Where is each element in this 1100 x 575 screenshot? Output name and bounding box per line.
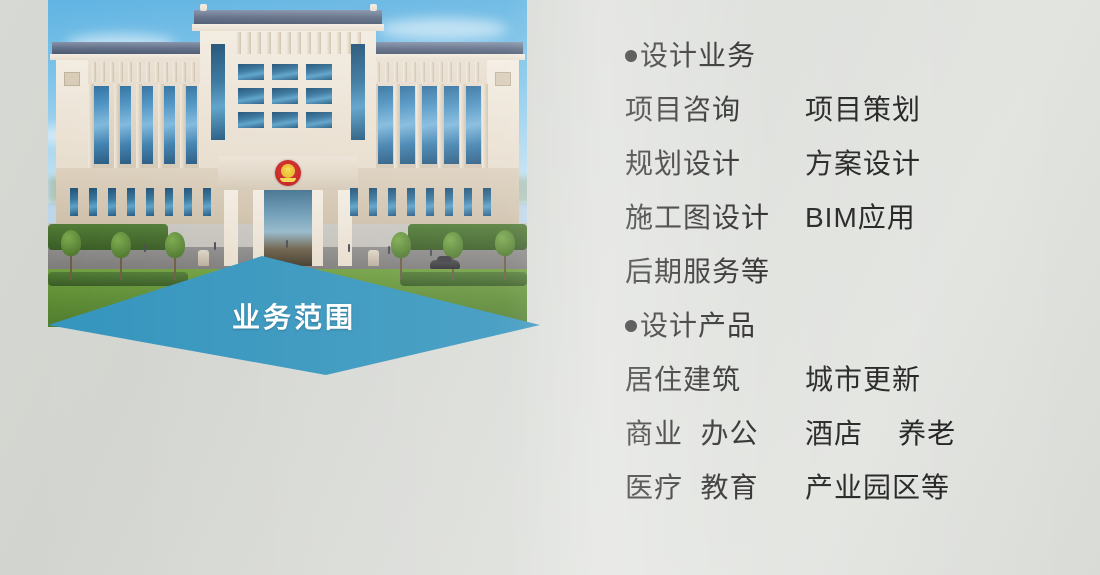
roof-finial [200,4,207,11]
bullet-icon [625,320,637,332]
portico-column [224,190,238,266]
section-heading-text: 设计产品 [640,304,756,344]
list-item: 医疗 教育产业园区等 [625,466,1045,520]
podium-window-row-left [70,188,211,216]
list-item-right: 方案设计 [805,142,921,182]
tower-window-row [238,64,332,80]
list-item-left: 施工图设计 [625,196,805,236]
entrance-glass [264,190,312,266]
roof-central-tower [194,10,382,24]
list-item: 居住建筑城市更新 [625,358,1045,412]
list-item-left: 后期服务等 [625,250,805,290]
pilaster [394,84,400,168]
cloud-shape [378,18,508,40]
pedestrian [214,242,216,250]
tower-window-row [238,88,332,104]
roof-left-wing [52,42,208,54]
list-item-right: 产业园区等 [805,466,950,506]
list-item: 项目咨询项目策划 [625,88,1045,142]
portico-column [253,190,264,266]
pavilion-medallion-left [64,72,80,86]
list-item-right: 城市更新 [805,358,921,398]
portico-column [312,190,323,266]
dentil-row-center [236,32,361,54]
section-heading-text: 设计业务 [640,34,756,74]
pedestrian [348,244,350,252]
pilaster [416,84,422,168]
pilaster [114,84,120,168]
dentil-row-left [92,62,213,82]
tower-window-row [238,112,332,128]
bullet-icon [625,50,637,62]
pedestrian [286,240,288,248]
pilaster [438,84,444,168]
pilaster [136,84,142,168]
national-emblem-icon [275,160,301,186]
pilaster [180,84,186,168]
list-item-left: 医疗 教育 [625,466,805,506]
section-heading-design-services: 设计业务 [625,34,1045,88]
list-item: 后期服务等 [625,250,1045,304]
list-item-right: 酒店 养老 [805,412,956,452]
pilaster [482,84,488,168]
pavilion-medallion-right [495,72,511,86]
podium-window-row-right [350,188,491,216]
content-panel: 设计业务 项目咨询项目策划 规划设计方案设计 施工图设计BIM应用 后期服务等 … [625,34,1045,520]
pilaster [88,84,94,168]
tower-side-glass [351,44,365,140]
dentil-row-right [358,62,479,82]
list-item-right: BIM应用 [805,196,916,236]
list-item-left: 商业 办公 [625,412,805,452]
pedestrian [144,244,146,252]
roof-finial [370,4,377,11]
list-item-left: 规划设计 [625,142,805,182]
section-heading-design-products: 设计产品 [625,304,1045,358]
pedestrian [388,246,390,254]
pilaster [460,84,466,168]
business-scope-banner-label: 业务范围 [40,256,540,375]
list-item: 规划设计方案设计 [625,142,1045,196]
cornice-central-tower [192,24,384,31]
roof-right-wing [366,42,523,54]
pedestrian [430,248,432,256]
slide-canvas: 业务范围 设计业务 项目咨询项目策划 规划设计方案设计 施工图设计BIM应用 后… [0,0,1100,575]
tower-side-glass [211,44,225,140]
list-item-right: 项目策划 [805,88,921,128]
list-item-left: 项目咨询 [625,88,805,128]
list-item: 施工图设计BIM应用 [625,196,1045,250]
list-item: 商业 办公酒店 养老 [625,412,1045,466]
pilaster [158,84,164,168]
list-item-left: 居住建筑 [625,358,805,398]
